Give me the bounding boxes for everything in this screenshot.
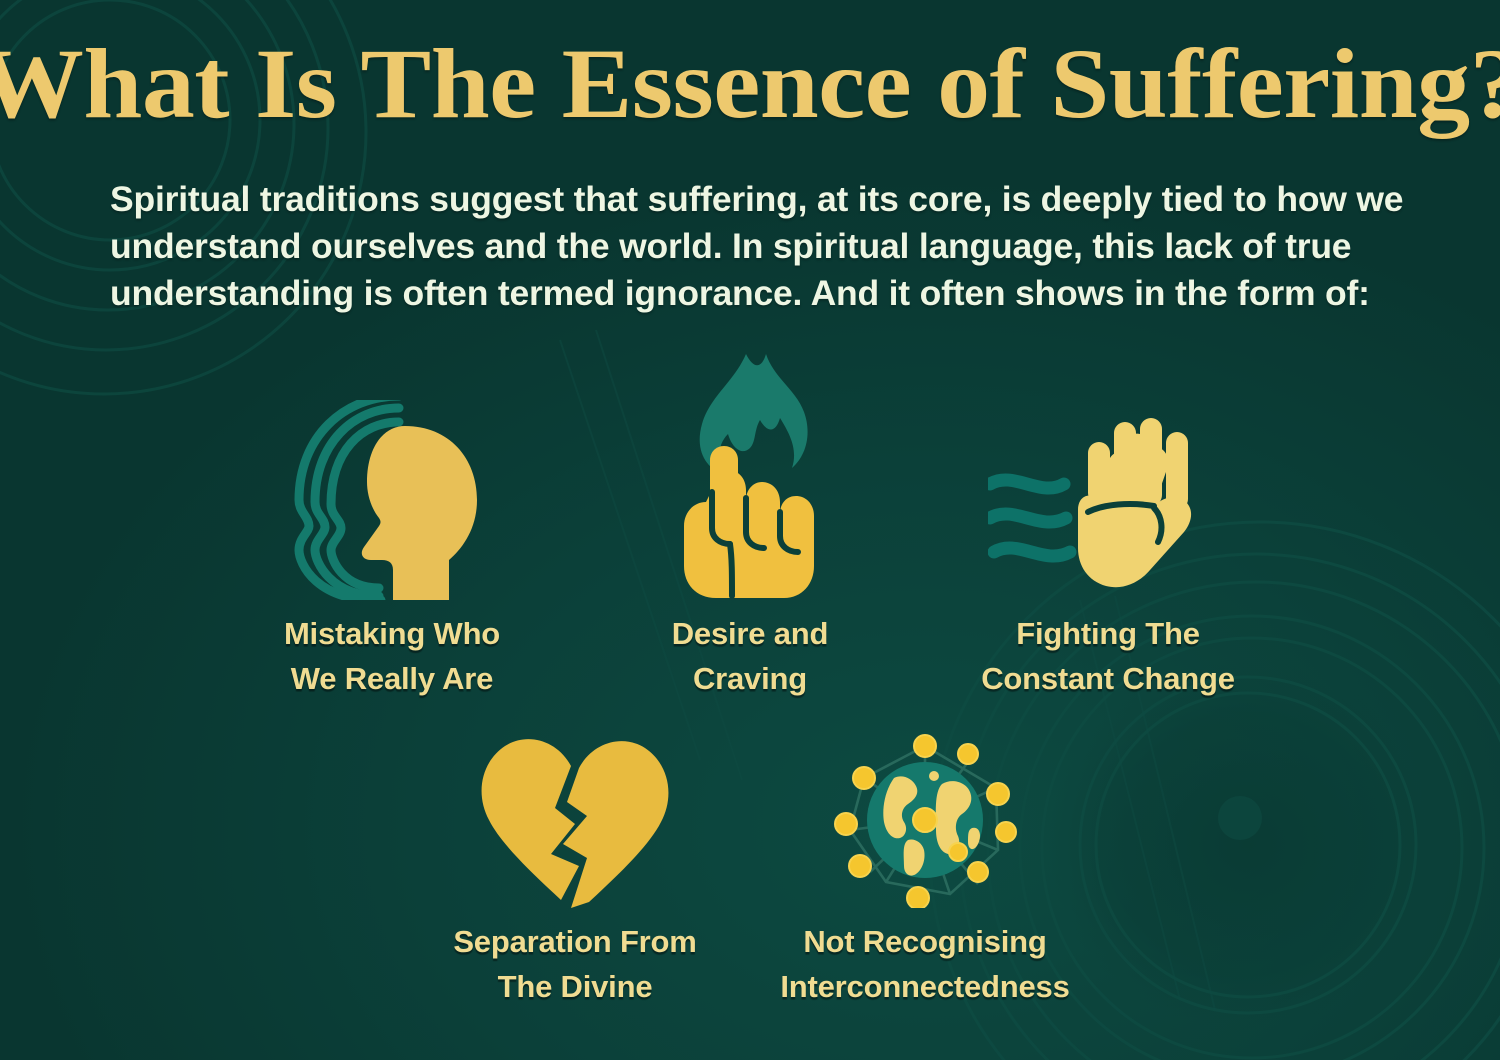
fist-flame-icon: [650, 352, 850, 600]
poster-canvas: What Is The Essence of Suffering? Spirit…: [0, 0, 1500, 1060]
globe-network-icon: [830, 732, 1020, 908]
cause-label: Separation From The Divine: [453, 920, 696, 1009]
intro-paragraph: Spiritual traditions suggest that suffer…: [110, 176, 1420, 317]
icon-container: [650, 352, 850, 600]
icon-container: [475, 728, 675, 908]
open-palm-waves-icon: [988, 400, 1228, 600]
icon-container: [830, 728, 1020, 908]
cause-item-separation-divine: Separation From The Divine: [400, 728, 750, 1009]
cause-item-mistaking-identity: Mistaking Who We Really Are: [213, 352, 571, 701]
title-block: What Is The Essence of Suffering?: [0, 34, 1500, 134]
cause-item-interconnectedness: Not Recognising Interconnectedness: [750, 728, 1100, 1009]
cause-item-desire-craving: Desire and Craving: [571, 352, 929, 701]
causes-row-top: Mistaking Who We Really Are: [0, 352, 1500, 701]
cause-label: Not Recognising Interconnectedness: [780, 920, 1069, 1009]
cause-label: Mistaking Who We Really Are: [284, 612, 500, 701]
icon-container: [988, 352, 1228, 600]
causes-row-bottom: Separation From The Divine: [0, 728, 1500, 1009]
head-profile-waves-icon: [287, 400, 497, 600]
cause-label: Fighting The Constant Change: [981, 612, 1235, 701]
cause-item-fighting-change: Fighting The Constant Change: [929, 352, 1287, 701]
cause-label: Desire and Craving: [672, 612, 829, 701]
page-title: What Is The Essence of Suffering?: [0, 34, 1500, 134]
broken-heart-icon: [475, 732, 675, 908]
icon-container: [287, 352, 497, 600]
